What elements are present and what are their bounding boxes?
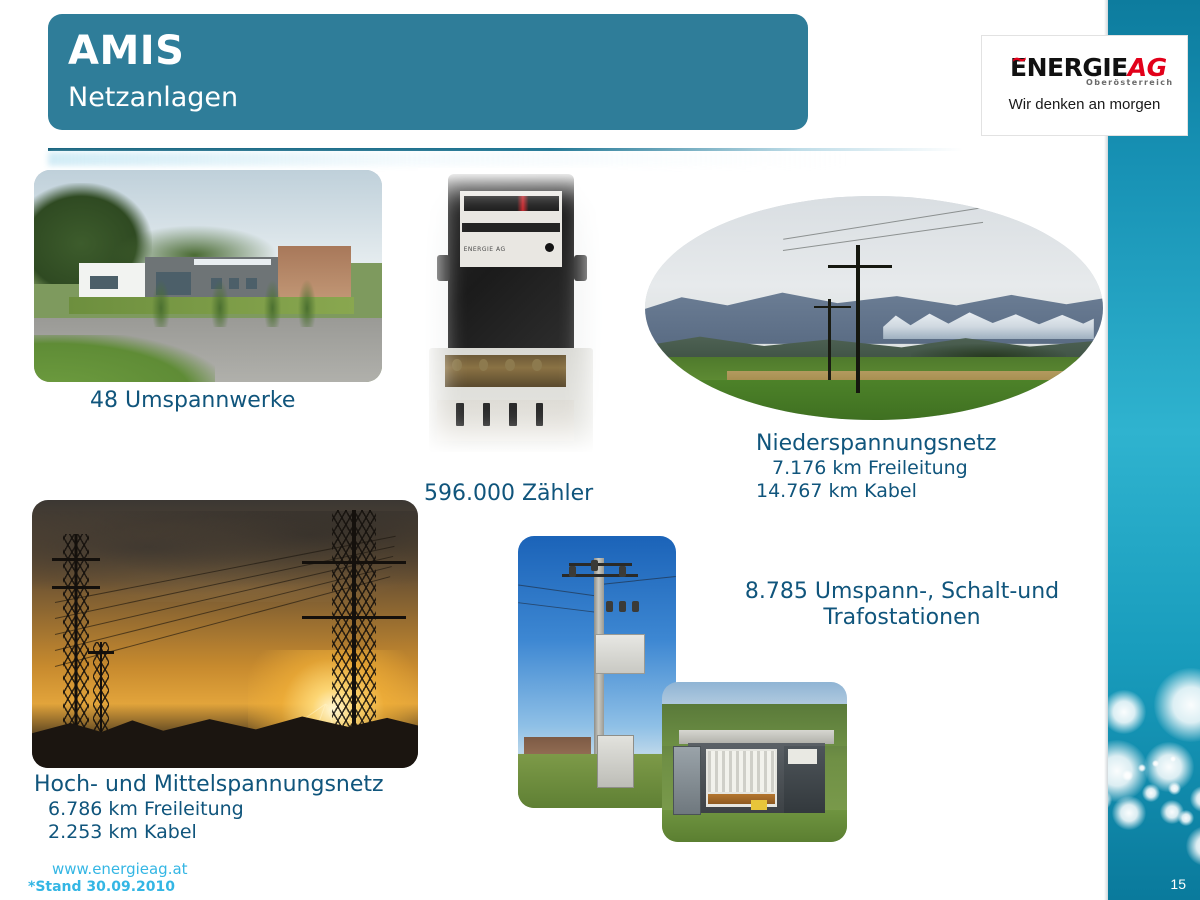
logo-claim: Wir denken an morgen xyxy=(982,96,1187,113)
header-divider-glow xyxy=(48,152,848,166)
caption-meter: 596.000 Zähler xyxy=(424,481,593,507)
transmission-pylon xyxy=(302,510,406,740)
caption-high-voltage: Hoch- und Mittelspannungsnetz 6.786 km F… xyxy=(34,772,384,845)
shrub xyxy=(298,280,315,327)
window xyxy=(194,259,271,265)
photo-transformer-station xyxy=(662,682,847,842)
shrub xyxy=(211,280,228,327)
insulator xyxy=(606,601,613,612)
bubble-icon xyxy=(1122,770,1133,781)
caption-stations: 8.785 Umspann-, Schalt-und Trafostatione… xyxy=(712,579,1092,630)
pylon-crossarm xyxy=(52,558,100,561)
warning-sign xyxy=(751,800,768,810)
pylon-crossarm xyxy=(52,586,100,589)
page-title: AMIS xyxy=(68,30,808,72)
bubble-icon xyxy=(1186,826,1200,866)
bubble-icon xyxy=(1168,782,1181,795)
bubble-icon xyxy=(1108,690,1146,734)
photo-meter: ENERGIE AG xyxy=(418,168,608,458)
bubble-icon xyxy=(1170,756,1176,762)
logo-region: Oberösterreich xyxy=(1086,78,1174,87)
photo-substation xyxy=(34,170,382,382)
shrub xyxy=(152,280,169,327)
footer-note: *Stand 30.09.2010 xyxy=(28,879,175,895)
insulator xyxy=(569,566,576,577)
shrub xyxy=(264,280,281,327)
pole-crossarm xyxy=(828,265,892,268)
photo-landscape-oval xyxy=(645,196,1103,420)
transmission-pylon xyxy=(88,642,114,734)
caption-heading: Hoch- und Mittelspannungsnetz xyxy=(34,772,384,798)
photo-sunset-pylons xyxy=(32,500,418,768)
bubble-icon xyxy=(1152,760,1159,767)
page-number: 15 xyxy=(1170,876,1186,892)
insulator xyxy=(619,566,626,577)
ground-cabinet xyxy=(597,735,634,789)
pylon-mast xyxy=(100,642,102,734)
caption-low-voltage: Niederspannungsnetz 7.176 km Freileitung… xyxy=(756,431,996,504)
bubble-icon xyxy=(1178,810,1194,826)
header-divider xyxy=(48,148,963,151)
pylon-crossarm xyxy=(88,651,114,654)
photo-pole-transformer xyxy=(518,536,676,808)
bubble-icon xyxy=(1154,668,1200,742)
utility-pole xyxy=(828,299,831,380)
caption-line-2: 2.253 km Kabel xyxy=(34,821,384,845)
window xyxy=(229,278,239,289)
open-door-panel xyxy=(673,746,701,815)
insulator xyxy=(591,560,598,571)
pylon-crossarm xyxy=(302,616,406,619)
caption-line-1: 7.176 km Freileitung xyxy=(756,457,996,481)
power-wire xyxy=(518,602,597,613)
bubble-icon xyxy=(1112,796,1146,830)
caption-heading: Niederspannungsnetz xyxy=(756,431,996,457)
window xyxy=(90,276,118,289)
caption-line-1: 8.785 Umspann-, Schalt-und xyxy=(712,579,1092,605)
caption-line-2: Trafostationen xyxy=(712,605,1092,631)
bubble-icon xyxy=(1142,784,1160,802)
pylon-mast xyxy=(75,534,78,734)
bubble-icon xyxy=(1190,786,1200,812)
caption-line-1: 6.786 km Freileitung xyxy=(34,798,384,822)
field-strip xyxy=(645,380,1103,420)
slide-title-bar: AMIS Netzanlagen xyxy=(48,14,808,130)
decorative-sidebar: 15 xyxy=(1108,0,1200,900)
pole-crossarm xyxy=(814,306,851,308)
page-subtitle: Netzanlagen xyxy=(68,82,808,113)
caption-line-2: 14.767 km Kabel xyxy=(756,480,996,504)
pole-transformer xyxy=(595,634,644,674)
pylon-crossarm xyxy=(302,561,406,564)
logo-swoosh-icon: ~ xyxy=(1011,54,1033,64)
footer-url[interactable]: www.energieag.at xyxy=(52,860,188,878)
insulator xyxy=(619,601,626,612)
lawn-area xyxy=(34,335,215,382)
power-wire xyxy=(518,585,596,597)
soft-edge-vignette xyxy=(418,168,608,458)
window xyxy=(246,278,256,289)
insulator xyxy=(632,601,639,612)
bubble-icon xyxy=(1138,764,1146,772)
switchgear-panels xyxy=(708,751,775,793)
brand-logo: ENERGIEAG ~ Oberösterreich Wir denken an… xyxy=(982,36,1187,135)
station-nameplate xyxy=(788,749,818,763)
pylon-mast xyxy=(352,510,356,740)
caption-substation: 48 Umspannwerke xyxy=(90,388,295,414)
